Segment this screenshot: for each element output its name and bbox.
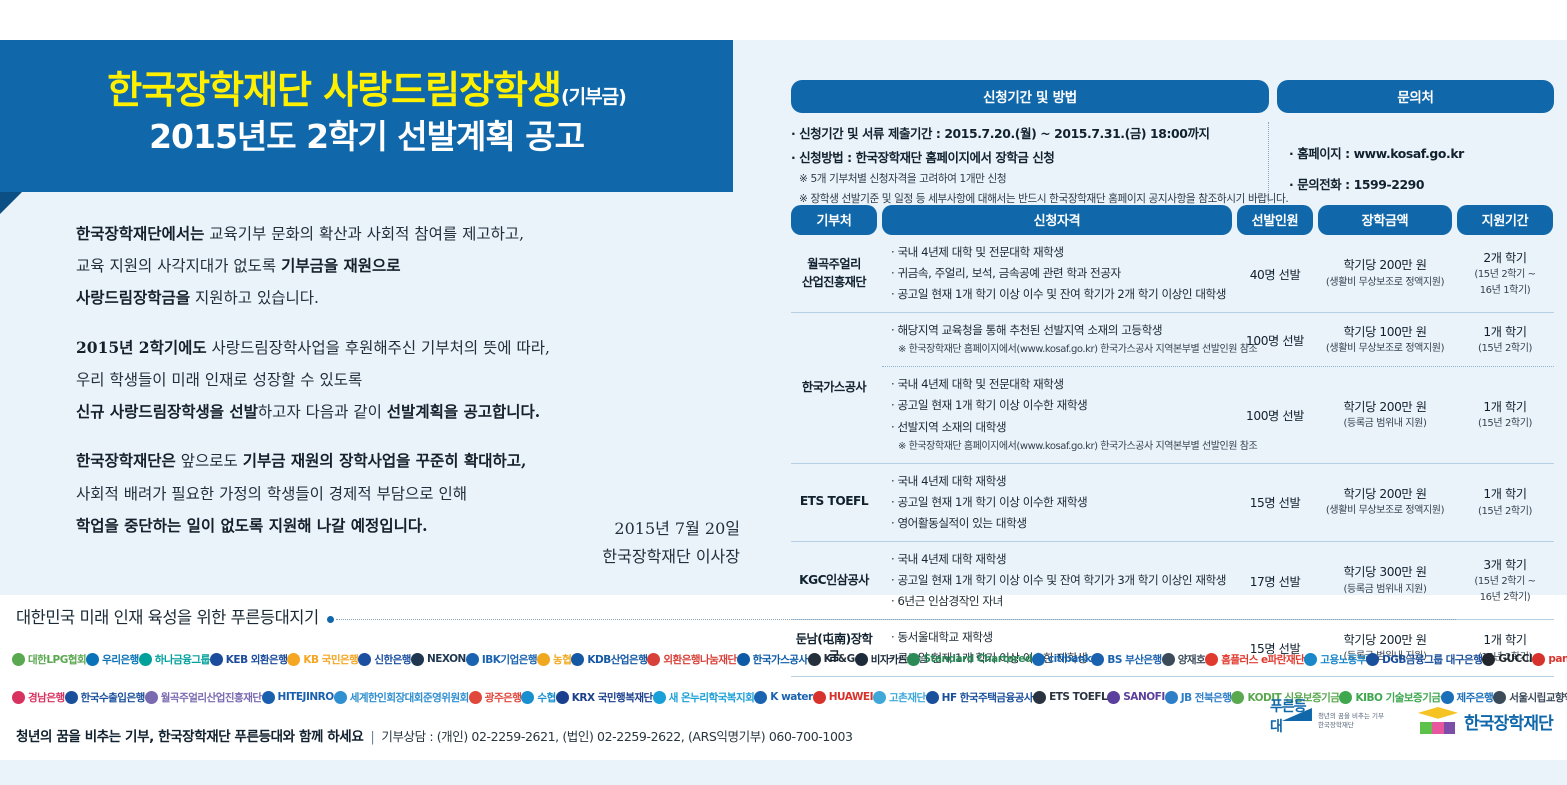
title-banner: 한국장학재단 사랑드림장학생(기부금) 2015년도 2학기 선발계획 공고 — [0, 40, 733, 192]
amount-sub: (생활비 무상보조로 정액지원) — [1326, 503, 1444, 519]
sponsor-name: 농협 — [553, 652, 571, 667]
sponsor-logo: citibank — [1032, 653, 1092, 666]
sponsor-logo: 하나금융그룹 — [139, 652, 210, 667]
period-sub-2: 16년 1학기) — [1480, 283, 1531, 299]
sponsor-mark-icon — [1165, 691, 1178, 704]
sponsor-mark-icon — [1482, 653, 1495, 666]
p3-bold-1: 한국장학재단은 — [76, 451, 176, 470]
table-cell-amount: 학기당 200만 원(등록금 범위내 지원) — [1318, 367, 1452, 462]
sponsor-name: KT&G — [824, 653, 855, 665]
lighthouse-icon: 푸른등대 — [1268, 706, 1312, 736]
qualification-note: ※ 한국장학재단 홈페이지에서(www.kosaf.go.kr) 한국가스공사 … — [891, 438, 1232, 456]
sponsor-name: KRX 국민행복재단 — [572, 690, 653, 705]
table-row: 월곡주얼리산업진흥재단· 국내 4년제 대학 및 전문대학 재학생· 귀금속, … — [791, 235, 1554, 313]
sponsor-mark-icon — [210, 653, 223, 666]
sponsor-mark-icon — [145, 691, 158, 704]
table-row: 한국가스공사· 해당지역 교육청을 통해 추천된 선발지역 소재의 고등학생※ … — [791, 313, 1554, 463]
period-main: 1개 학기 — [1483, 398, 1526, 416]
table-header-count: 선발인원 — [1237, 205, 1313, 235]
donor-name-line-1: ETS TOEFL — [800, 493, 868, 511]
sponsor-mark-icon — [1366, 653, 1379, 666]
sponsor-mark-icon — [1107, 691, 1120, 704]
sponsor-mark-icon — [12, 691, 25, 704]
sponsor-title-leader — [327, 616, 1456, 623]
sponsor-name: 신한은행 — [374, 652, 411, 667]
table-cell-qualification: · 국내 4년제 대학 재학생· 공고일 현재 1개 학기 이상 이수한 재학생… — [882, 464, 1232, 541]
sponsor-name: 한국가스공사 — [753, 652, 808, 667]
sponsor-mark-icon — [926, 691, 939, 704]
sponsor-logo: JB 전북은행 — [1165, 690, 1232, 705]
poster-root: 한국장학재단 사랑드림장학생(기부금) 2015년도 2학기 선발계획 공고 한… — [0, 0, 1567, 785]
period-sub-1: (15년 2학기 ~ — [1474, 267, 1535, 283]
footer-brand-zone: 푸른등대 청년의 꿈을 비추는 기부 한국장학재단 한국장학재단 — [1268, 706, 1553, 736]
sponsor-logo: KDB산업은행 — [571, 652, 647, 667]
sponsor-name: NEXON — [427, 653, 466, 665]
sponsor-mark-icon — [469, 691, 482, 704]
graduation-cap-icon — [1418, 707, 1458, 735]
sponsor-logo: K water — [754, 691, 812, 704]
info-box-body: · 신청기간 및 서류 제출기간 : 2015.7.20.(월) ~ 2015.… — [791, 113, 1554, 210]
amount-main: 학기당 100만 원 — [1343, 323, 1426, 341]
sponsor-name: 새 온누리학국복지회 — [669, 690, 755, 705]
bullet-icon — [327, 616, 334, 623]
sponsor-name: 비자카드 — [871, 652, 908, 667]
period-main: 1개 학기 — [1483, 485, 1526, 503]
qualification-line: · 국내 4년제 대학 재학생 — [891, 549, 1232, 570]
sponsor-logo: HITEJINRO — [262, 691, 334, 704]
sponsor-mark-icon — [466, 653, 479, 666]
sponsor-logo: 새 온누리학국복지회 — [653, 690, 755, 705]
sponsor-name: HF 한국주택금융공사 — [942, 690, 1033, 705]
sponsor-name: 홈플러스 e파란재단 — [1221, 652, 1304, 667]
p3-bold-2: 기부금 재원의 장학사업을 꾸준히 확대하고, — [243, 451, 527, 470]
narrative-paragraph-1: 한국장학재단에서는 교육기부 문화의 확산과 사회적 참여를 제고하고, 교육 … — [76, 218, 716, 315]
sponsor-logo: 농협 — [537, 652, 571, 667]
sponsor-name: 고촌재단 — [889, 690, 926, 705]
table-cell-donor: 한국가스공사 — [791, 313, 877, 462]
amount-main: 학기당 300만 원 — [1343, 563, 1426, 581]
brand1-subtext: 청년의 꿈을 비추는 기부 한국장학재단 — [1318, 712, 1384, 730]
signoff-signer: 한국장학재단 이사장 — [360, 543, 740, 571]
narrative-paragraph-2: 2015년 2학기에도 사랑드림장학사업을 후원해주신 기부처의 뜻에 따라, … — [76, 332, 716, 429]
sponsor-logo: 월곡주얼리산업진흥재단 — [145, 690, 262, 705]
amount-main: 학기당 200만 원 — [1343, 485, 1426, 503]
sponsor-name: 하나금융그룹 — [155, 652, 210, 667]
table-cell-qualification: · 국내 4년제 대학 및 전문대학 재학생· 공고일 현재 1개 학기 이상 … — [882, 367, 1232, 462]
sponsor-mark-icon — [262, 691, 275, 704]
sponsor-name: 서울시립교향악단 — [1509, 690, 1567, 705]
sponsor-mark-icon — [1091, 653, 1104, 666]
footer-separator: | — [370, 730, 374, 745]
qualification-line: · 공고일 현재 1개 학기 이상 이수 및 잔여 학기가 3개 학기 이상인 … — [891, 570, 1232, 591]
sponsor-mark-icon — [139, 653, 152, 666]
title-superscript: (기부금) — [561, 86, 626, 108]
sponsor-name: IBK기업은행 — [482, 652, 537, 667]
p1-bold-1: 한국장학재단에서는 — [76, 224, 204, 243]
table-cell-period: 1개 학기(15년 2학기) — [1457, 313, 1553, 366]
sponsor-logo: 경남은행 — [12, 690, 65, 705]
qualification-line: · 공고일 현재 1개 학기 이상 이수한 재학생 — [891, 395, 1232, 416]
table-cell-count: 100명 선발 — [1237, 313, 1313, 366]
contact-homepage[interactable]: · 홈페이지 : www.kosaf.go.kr — [1289, 138, 1546, 169]
sponsor-name: BS 부산은행 — [1107, 652, 1161, 667]
sponsor-name: 우리은행 — [102, 652, 139, 667]
sponsor-name: DGB금융그룹 대구은행 — [1382, 652, 1482, 667]
sponsor-mark-icon — [12, 653, 25, 666]
sponsor-logo: 수협 — [521, 690, 555, 705]
info-box-headers: 신청기간 및 방법 문의처 — [791, 80, 1554, 113]
table-cell-count: 40명 선발 — [1237, 235, 1313, 312]
sponsor-name: ETS TOEFL — [1049, 691, 1107, 703]
sponsor-mark-icon — [537, 653, 550, 666]
sponsor-logo: HF 한국주택금융공사 — [926, 690, 1033, 705]
qualification-line: · 국내 4년제 대학 및 전문대학 재학생 — [891, 374, 1232, 395]
sponsor-mark-icon — [1493, 691, 1506, 704]
table-cell-donor: 월곡주얼리산업진흥재단 — [791, 235, 877, 312]
sponsor-name: KEB 외환은행 — [226, 652, 288, 667]
qualification-line: · 영어활동실적이 있는 대학생 — [891, 513, 1232, 534]
info-header-application: 신청기간 및 방법 — [791, 80, 1269, 113]
sponsor-name: 월곡주얼리산업진흥재단 — [161, 690, 262, 705]
brand1-sub-line-1: 청년의 꿈을 비추는 기부 — [1318, 712, 1384, 721]
sponsor-logo: KIBO 기술보증기금 — [1339, 690, 1440, 705]
table-cell-period: 1개 학기(15년 2학기) — [1457, 464, 1553, 541]
sponsor-name: KB 국민은행 — [303, 652, 358, 667]
sponsor-mark-icon — [813, 691, 826, 704]
table-cell-count: 15명 선발 — [1237, 464, 1313, 541]
sponsor-logo: 외환은행나눔재단 — [647, 652, 736, 667]
sponsor-name: 양재호 — [1178, 652, 1205, 667]
sponsor-logo: 고용노동부 — [1304, 652, 1366, 667]
period-sub-1: (15년 2학기) — [1478, 504, 1532, 520]
table-cell-amount: 학기당 200만 원(생활비 무상보조로 정액지원) — [1318, 235, 1452, 312]
sponsor-logo: 광주은행 — [469, 690, 522, 705]
sponsor-logo-row-1: 대한LPG협회우리은행하나금융그룹KEB 외환은행KB 국민은행신한은행NEXO… — [12, 644, 1557, 674]
sponsor-mark-icon — [521, 691, 534, 704]
sponsor-logo: 우리은행 — [86, 652, 139, 667]
qualification-note: ※ 한국장학재단 홈페이지에서(www.kosaf.go.kr) 한국가스공사 … — [891, 341, 1232, 359]
title-line-2: 2015년도 2학기 선발계획 공고 — [149, 116, 584, 157]
sponsor-mark-icon — [1205, 653, 1218, 666]
sponsor-name: 외환은행나눔재단 — [663, 652, 736, 667]
period-main: 1개 학기 — [1483, 323, 1526, 341]
sponsor-logo: KT&G — [808, 653, 855, 666]
table-subrow: · 해당지역 교육청을 통해 추천된 선발지역 소재의 고등학생※ 한국장학재단… — [882, 313, 1554, 367]
sponsor-logo: KB 국민은행 — [287, 652, 358, 667]
p1-bold-2: 기부금을 재원으로 — [281, 256, 400, 275]
sponsor-logo: 제주은행 — [1441, 690, 1494, 705]
sponsor-logo: 고촌재단 — [873, 690, 926, 705]
sponsor-name: K water — [770, 691, 812, 703]
info-contact-details: · 홈페이지 : www.kosaf.go.kr · 문의전화 : 1599-2… — [1269, 122, 1546, 210]
p2-bold-2: 신규 사랑드림장학생을 선발 — [76, 402, 258, 421]
amount-sub: (생활비 무상보조로 정액지원) — [1326, 275, 1444, 291]
cap-block-green — [1420, 722, 1432, 734]
sponsor-mark-icon — [411, 653, 424, 666]
application-period-line: · 신청기간 및 서류 제출기간 : 2015.7.20.(월) ~ 2015.… — [791, 122, 1258, 146]
table-header-row: 기부처 신청자격 선발인원 장학금액 지원기간 — [791, 205, 1554, 235]
narrative-body: 한국장학재단에서는 교육기부 문화의 확산과 사회적 참여를 제고하고, 교육 … — [76, 218, 716, 542]
donor-name-line-1: 월곡주얼리 — [807, 256, 861, 274]
sponsor-mark-icon — [1304, 653, 1317, 666]
table-cell-amount: 학기당 100만 원(생활비 무상보조로 정액지원) — [1318, 313, 1452, 366]
footer-lead: 청년의 꿈을 비추는 기부, 한국장학재단 푸른등대와 함께 하세요 — [16, 729, 363, 745]
p2-text-1: 사랑드림장학사업을 후원해주신 기부처의 뜻에 따라, — [207, 339, 550, 357]
application-info-box: 신청기간 및 방법 문의처 · 신청기간 및 서류 제출기간 : 2015.7.… — [791, 80, 1554, 210]
table-cell-period: 1개 학기(15년 2학기) — [1457, 367, 1553, 462]
sponsor-mark-icon — [855, 653, 868, 666]
sponsor-section-title: 대한민국 미래 인재 육성을 위한 푸른등대지기 — [16, 604, 1456, 628]
amount-main: 학기당 200만 원 — [1343, 398, 1426, 416]
period-main: 3개 학기 — [1483, 556, 1526, 574]
period-main: 2개 학기 — [1483, 249, 1526, 267]
donor-name-line-2: 산업진흥재단 — [802, 274, 866, 292]
signoff-block: 2015년 7월 20일 한국장학재단 이사장 — [360, 515, 740, 571]
table-cell-donor: ETS TOEFL — [791, 464, 877, 541]
period-sub-1: (15년 2학기) — [1478, 416, 1532, 432]
sponsor-name: 한국수출입은행 — [81, 690, 145, 705]
sponsor-name: Standard Chartered — [923, 653, 1032, 665]
title-main-text: 한국장학재단 사랑드림장학생 — [107, 68, 561, 112]
sponsor-logo: 대한LPG협회 — [12, 652, 86, 667]
amount-sub: (생활비 무상보조로 정액지원) — [1326, 341, 1444, 357]
amount-sub: (등록금 범위내 지원) — [1344, 582, 1427, 598]
signoff-date: 2015년 7월 20일 — [360, 515, 740, 543]
table-header-qualification: 신청자격 — [882, 205, 1232, 235]
brand-kosaf: 한국장학재단 — [1418, 707, 1553, 735]
sponsor-mark-icon — [647, 653, 660, 666]
p1-text-1: 교육기부 문화의 확산과 사회적 참여를 제고하고, — [204, 225, 524, 243]
sponsor-logo: 신한은행 — [358, 652, 411, 667]
cap-block-pink — [1432, 722, 1444, 734]
sponsor-logo: 양재호 — [1162, 652, 1205, 667]
sponsor-logo: NEXON — [411, 653, 466, 666]
p1-bold-3: 사랑드림장학금을 — [76, 288, 190, 307]
sponsor-logo: 한국가스공사 — [737, 652, 808, 667]
sponsor-name: HITEJINRO — [278, 691, 334, 703]
sponsor-mark-icon — [1032, 653, 1045, 666]
sponsor-logo: IBK기업은행 — [466, 652, 537, 667]
table-header-donor: 기부처 — [791, 205, 877, 235]
application-method-line: · 신청방법 : 한국장학재단 홈페이지에서 장학금 신청 — [791, 146, 1258, 170]
sponsor-mark-icon — [907, 653, 920, 666]
sponsor-mark-icon — [1532, 653, 1545, 666]
sponsor-mark-icon — [754, 691, 767, 704]
sponsor-name: GUCCI — [1498, 653, 1532, 665]
bottom-strip — [0, 760, 1567, 785]
sponsor-mark-icon — [737, 653, 750, 666]
footer-donation-text: 청년의 꿈을 비추는 기부, 한국장학재단 푸른등대와 함께 하세요|기부상담 … — [16, 725, 853, 745]
sponsor-name: 대한LPG협회 — [28, 652, 86, 667]
sponsor-logo: Standard Chartered — [907, 653, 1032, 666]
sponsor-mark-icon — [1231, 691, 1244, 704]
p2-text-3: 하고자 다음과 같이 — [258, 403, 387, 421]
sponsor-name: 광주은행 — [485, 690, 522, 705]
sponsor-logo: 세계한인회장대회준영위원회 — [334, 690, 469, 705]
sponsor-mark-icon — [65, 691, 78, 704]
qualification-line: · 귀금속, 주얼리, 보석, 금속공예 관련 학과 전공자 — [891, 263, 1232, 284]
brand-pureundeungdae: 푸른등대 청년의 꿈을 비추는 기부 한국장학재단 — [1268, 706, 1384, 736]
sponsor-logo: KEB 외환은행 — [210, 652, 288, 667]
application-note-1: ※ 5개 기부처별 신청자격을 고려하여 1개만 신청 — [791, 170, 1258, 190]
sponsor-name: 제주은행 — [1457, 690, 1494, 705]
qualification-line: · 국내 4년제 대학 재학생 — [891, 471, 1232, 492]
sponsor-logo: 홈플러스 e파란재단 — [1205, 652, 1304, 667]
contact-phone: · 문의전화 : 1599-2290 — [1289, 169, 1546, 200]
table-cell-qualification: · 해당지역 교육청을 통해 추천된 선발지역 소재의 고등학생※ 한국장학재단… — [882, 313, 1232, 366]
sponsor-name: SANOFI — [1123, 691, 1164, 703]
sponsor-name: citibank — [1048, 653, 1092, 665]
p3-text-2: 사회적 배려가 필요한 가정의 학생들이 경제적 부담으로 인해 — [76, 485, 467, 503]
qualification-line: · 해당지역 교육청을 통해 추천된 선발지역 소재의 고등학생 — [891, 320, 1232, 341]
sponsor-mark-icon — [808, 653, 821, 666]
qualification-line: · 선발지역 소재의 대학생 — [891, 417, 1232, 438]
donor-subrow-group: · 해당지역 교육청을 통해 추천된 선발지역 소재의 고등학생※ 한국장학재단… — [882, 313, 1554, 462]
p2-bold-1: 2015년 2학기에도 — [76, 338, 207, 357]
sponsor-mark-icon — [86, 653, 99, 666]
table-cell-period: 2개 학기(15년 2학기 ~16년 1학기) — [1457, 235, 1553, 312]
qualification-line: · 공고일 현재 1개 학기 이상 이수 및 잔여 학기가 2개 학기 이상인 … — [891, 284, 1232, 305]
sponsor-name: KIBO 기술보증기금 — [1355, 690, 1440, 705]
amount-main: 학기당 200만 원 — [1343, 256, 1426, 274]
sponsor-mark-icon — [287, 653, 300, 666]
table-header-period: 지원기간 — [1457, 205, 1553, 235]
sponsor-name: pantos — [1548, 653, 1567, 665]
period-sub-2: 16년 2학기) — [1480, 590, 1531, 606]
sponsor-name: HUAWEI — [829, 691, 873, 703]
sponsor-mark-icon — [1441, 691, 1454, 704]
table-cell-period: 3개 학기(15년 2학기 ~16년 2학기) — [1457, 542, 1553, 619]
sponsor-mark-icon — [1162, 653, 1175, 666]
sponsor-logo: 한국수출입은행 — [65, 690, 145, 705]
sponsor-logo: BS 부산은행 — [1091, 652, 1161, 667]
sponsor-mark-icon — [1033, 691, 1046, 704]
sponsor-mark-icon — [873, 691, 886, 704]
sponsor-name: JB 전북은행 — [1181, 690, 1232, 705]
amount-sub: (등록금 범위내 지원) — [1344, 416, 1427, 432]
sponsor-name: 고용노동부 — [1320, 652, 1366, 667]
cap-block-purple — [1444, 722, 1455, 734]
sponsor-logo: DGB금융그룹 대구은행 — [1366, 652, 1482, 667]
sponsor-logo: ETS TOEFL — [1033, 691, 1107, 704]
sponsor-logo: 비자카드 — [855, 652, 908, 667]
qualification-line: · 공고일 현재 1개 학기 이상 이수한 재학생 — [891, 492, 1232, 513]
period-sub-1: (15년 2학기) — [1478, 341, 1532, 357]
p1-text-3: 지원하고 있습니다. — [190, 289, 319, 307]
period-sub-1: (15년 2학기 ~ — [1474, 574, 1535, 590]
info-application-details: · 신청기간 및 서류 제출기간 : 2015.7.20.(월) ~ 2015.… — [791, 122, 1269, 210]
donor-name-line-1: 한국가스공사 — [802, 379, 866, 397]
table-header-amount: 장학금액 — [1318, 205, 1452, 235]
sponsor-mark-icon — [358, 653, 371, 666]
sponsor-mark-icon — [556, 691, 569, 704]
table-subrow: · 국내 4년제 대학 및 전문대학 재학생· 공고일 현재 1개 학기 이상 … — [882, 367, 1554, 462]
sponsor-name: 세계한인회장대회준영위원회 — [350, 690, 469, 705]
sponsor-mark-icon — [334, 691, 347, 704]
sponsor-mark-icon — [1339, 691, 1352, 704]
lighthouse-base-text: 푸른등대 — [1270, 696, 1312, 736]
sponsor-logo: 서울시립교향악단 — [1493, 690, 1567, 705]
sponsor-logo: GUCCI — [1482, 653, 1532, 666]
info-header-contact: 문의처 — [1277, 80, 1554, 113]
title-line-1: 한국장학재단 사랑드림장학생(기부금) — [107, 70, 626, 112]
p3-text-1: 앞으로도 — [176, 452, 243, 470]
sponsor-mark-icon — [653, 691, 666, 704]
dotted-leader-line — [336, 619, 1456, 620]
qualification-line: · 국내 4년제 대학 및 전문대학 재학생 — [891, 242, 1232, 263]
sponsor-name: 수협 — [537, 690, 555, 705]
sponsor-mark-icon — [571, 653, 584, 666]
brand1-sub-line-2: 한국장학재단 — [1318, 721, 1384, 730]
table-cell-amount: 학기당 200만 원(생활비 무상보조로 정액지원) — [1318, 464, 1452, 541]
sponsor-logo: pantos — [1532, 653, 1567, 666]
p2-bold-3: 선발계획을 공고합니다. — [387, 402, 540, 421]
footer-contact-tail: 기부상담 : (개인) 02-2259-2621, (법인) 02-2259-2… — [381, 729, 852, 744]
table-cell-count: 100명 선발 — [1237, 367, 1313, 462]
p2-text-2: 우리 학생들이 미래 인재로 성장할 수 있도록 — [76, 371, 362, 389]
sponsor-name: 경남은행 — [28, 690, 65, 705]
sponsor-name: KDB산업은행 — [587, 652, 647, 667]
p1-text-2: 교육 지원의 사각지대가 없도록 — [76, 257, 281, 275]
donor-name-line-1: KGC인삼공사 — [799, 572, 869, 590]
sponsor-logo: KRX 국민행복재단 — [556, 690, 653, 705]
sponsor-title-text: 대한민국 미래 인재 육성을 위한 푸른등대지기 — [16, 608, 319, 627]
sponsor-logo: SANOFI — [1107, 691, 1164, 704]
table-row: ETS TOEFL· 국내 4년제 대학 재학생· 공고일 현재 1개 학기 이… — [791, 464, 1554, 542]
kosaf-brand-name: 한국장학재단 — [1464, 709, 1553, 734]
cap-top-shape — [1418, 707, 1458, 720]
table-cell-qualification: · 국내 4년제 대학 및 전문대학 재학생· 귀금속, 주얼리, 보석, 금속… — [882, 235, 1232, 312]
sponsor-logo: HUAWEI — [813, 691, 873, 704]
